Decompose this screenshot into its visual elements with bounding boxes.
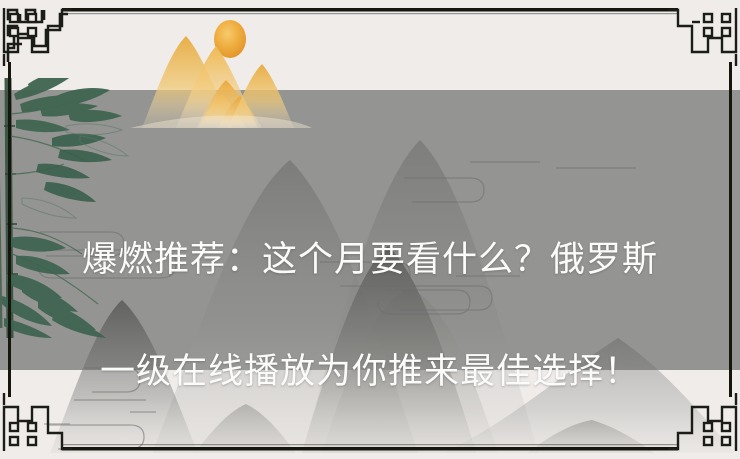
- headline-line-1: 爆燃推荐：这个月要看什么？俄罗斯: [0, 232, 740, 288]
- poster-headline: 爆燃推荐：这个月要看什么？俄罗斯 一级在线播放为你推来最佳选择！: [0, 176, 740, 456]
- poster-canvas: 爆燃推荐：这个月要看什么？俄罗斯 一级在线播放为你推来最佳选择！: [0, 0, 740, 459]
- headline-line-2: 一级在线播放为你推来最佳选择！: [0, 344, 740, 400]
- sun-and-golden-mountains-illustration: [0, 0, 740, 130]
